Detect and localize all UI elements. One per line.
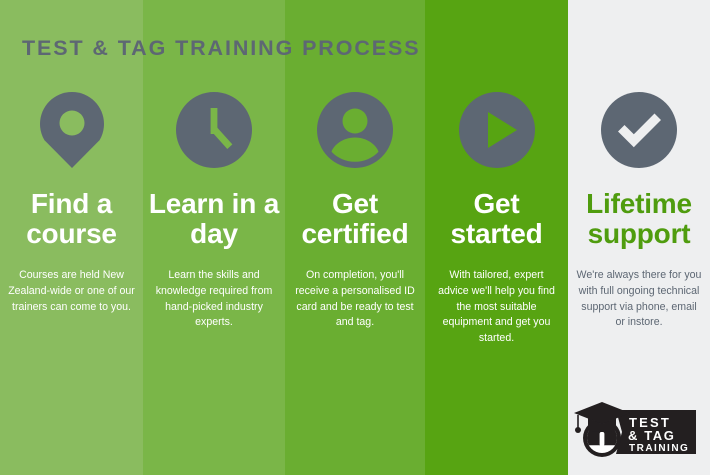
step-heading: Lifetime support [568,189,710,249]
step-heading: Learn in a day [143,189,285,249]
step-body-text: On completion, you'll receive a personal… [285,268,425,331]
logo-line-3: TRAINING [629,443,689,454]
step-heading: Find a course [0,189,143,249]
infographic-root: TEST & TAG TRAINING PROCESS Find a cours… [0,0,710,475]
test-and-tag-training-logo: TEST & TAG TRAINING [572,400,696,462]
step-heading: Get certified [285,189,425,249]
step-column-get-started: Get started With tailored, expert advice… [425,0,568,475]
clock-icon [171,92,257,168]
logo-line-2: & TAG [628,428,675,443]
step-column-get-certified: Get certified On completion, you'll rece… [285,0,425,475]
step-body-text: Courses are held New Zealand-wide or one… [0,268,143,315]
step-column-learn-in-a-day: Learn in a day Learn the skills and know… [143,0,285,475]
play-icon [454,92,540,168]
page-title: TEST & TAG TRAINING PROCESS [22,36,421,61]
step-body-text: We're always there for you with full ong… [568,268,710,331]
step-column-find-a-course: Find a course Courses are held New Zeala… [0,0,143,475]
step-body-text: With tailored, expert advice we'll help … [425,268,568,346]
map-pin-icon [29,92,115,168]
step-heading: Get started [425,189,568,249]
person-icon [312,92,398,168]
check-circle-icon [596,92,682,168]
step-body-text: Learn the skills and knowledge required … [143,268,285,331]
